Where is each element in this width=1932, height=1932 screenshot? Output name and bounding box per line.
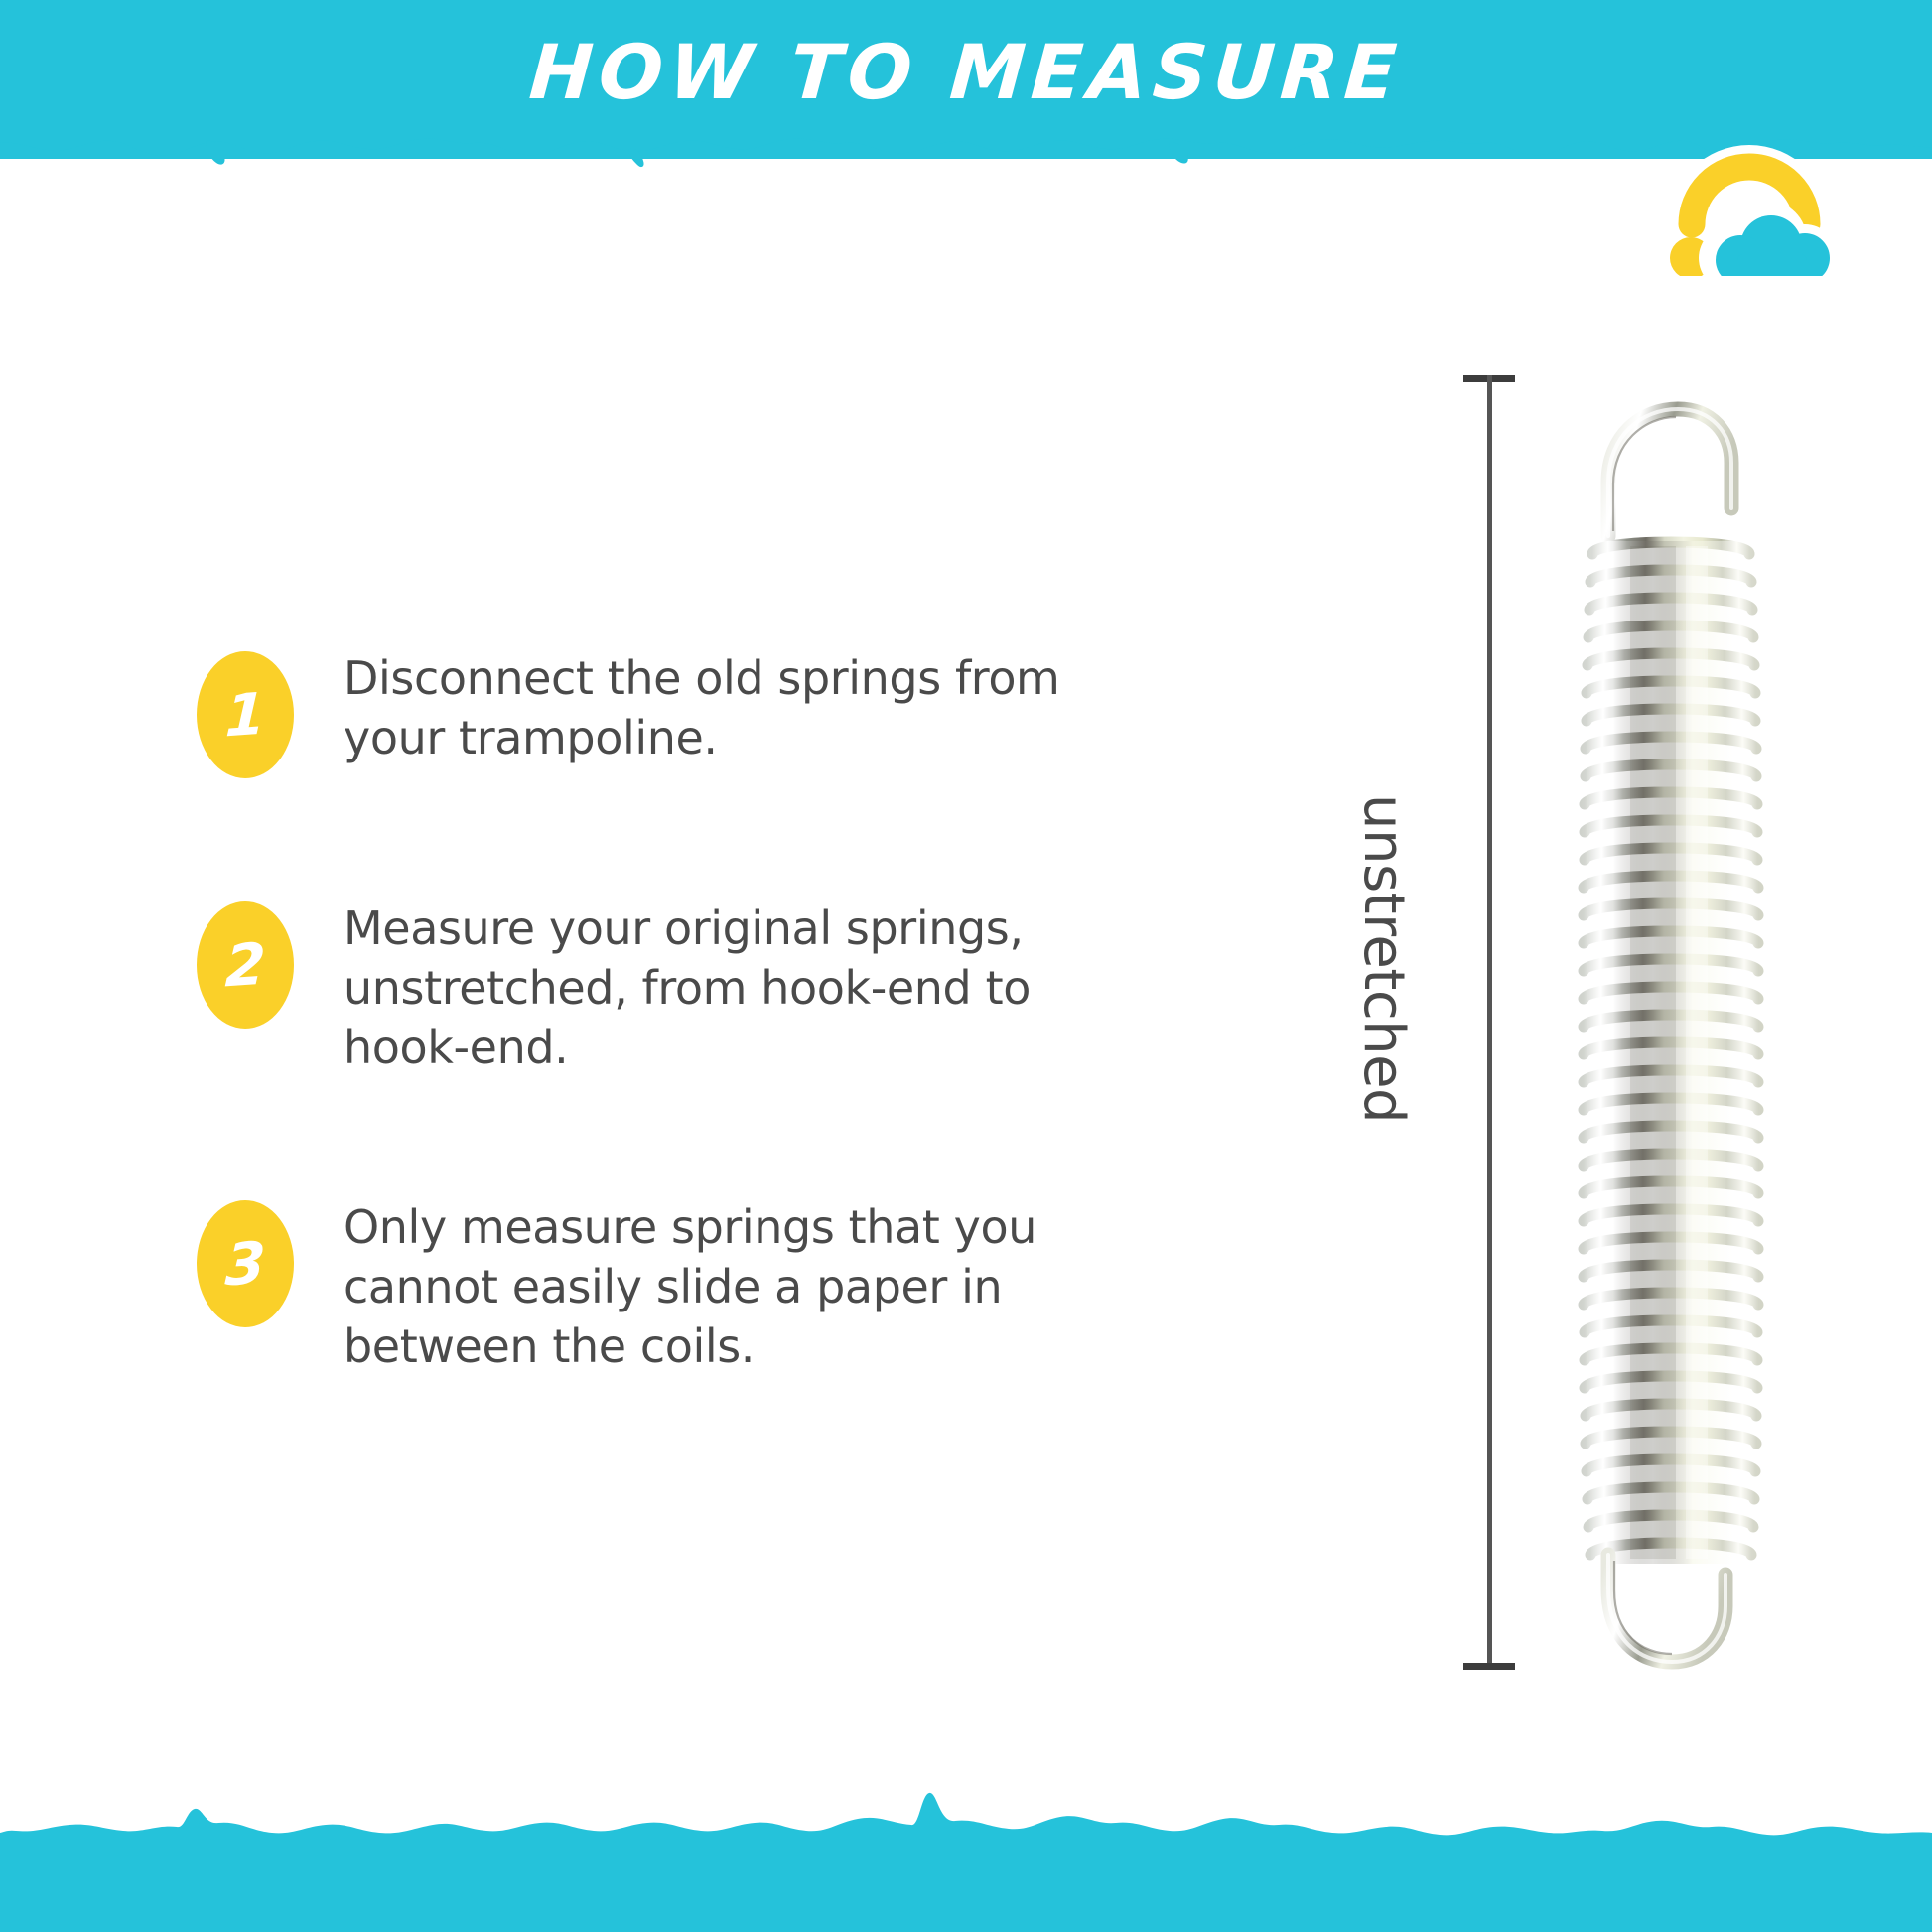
steps-list: 1 Disconnect the old springs from your t…: [197, 645, 1110, 1494]
page-title: HOW TO MEASURE: [0, 28, 1932, 116]
spring-coils: [1581, 541, 1761, 1564]
step-number-badge: 2: [197, 901, 294, 1029]
trampoline-spring-image: [1557, 387, 1785, 1678]
step-number-label: 1: [224, 685, 267, 746]
infographic-page: HOW TO MEASURE: [0, 0, 1932, 1932]
spring-top-hook: [1608, 409, 1731, 536]
step-number-badge: 1: [197, 651, 294, 778]
list-item: 1 Disconnect the old springs from your t…: [197, 645, 1110, 778]
step-description: Measure your original springs, unstretch…: [344, 896, 1098, 1077]
measurement-dimension-line: [1485, 375, 1493, 1670]
rainbow-cloud-logo: [1660, 107, 1859, 276]
step-description: Only measure springs that you cannot eas…: [344, 1194, 1098, 1376]
dimension-rule: [1487, 375, 1492, 1670]
step-description: Disconnect the old springs from your tra…: [344, 645, 1098, 768]
list-item: 2 Measure your original springs, unstret…: [197, 896, 1110, 1077]
list-item: 3 Only measure springs that you cannot e…: [197, 1194, 1110, 1376]
footer-band: [0, 1843, 1932, 1932]
step-number-label: 3: [224, 1234, 267, 1295]
measurement-label: unstretched: [1351, 794, 1416, 1211]
step-number-badge: 3: [197, 1200, 294, 1327]
spring-bottom-hook: [1608, 1555, 1725, 1662]
dimension-cap-bottom: [1463, 1663, 1515, 1670]
step-number-label: 2: [224, 935, 267, 996]
